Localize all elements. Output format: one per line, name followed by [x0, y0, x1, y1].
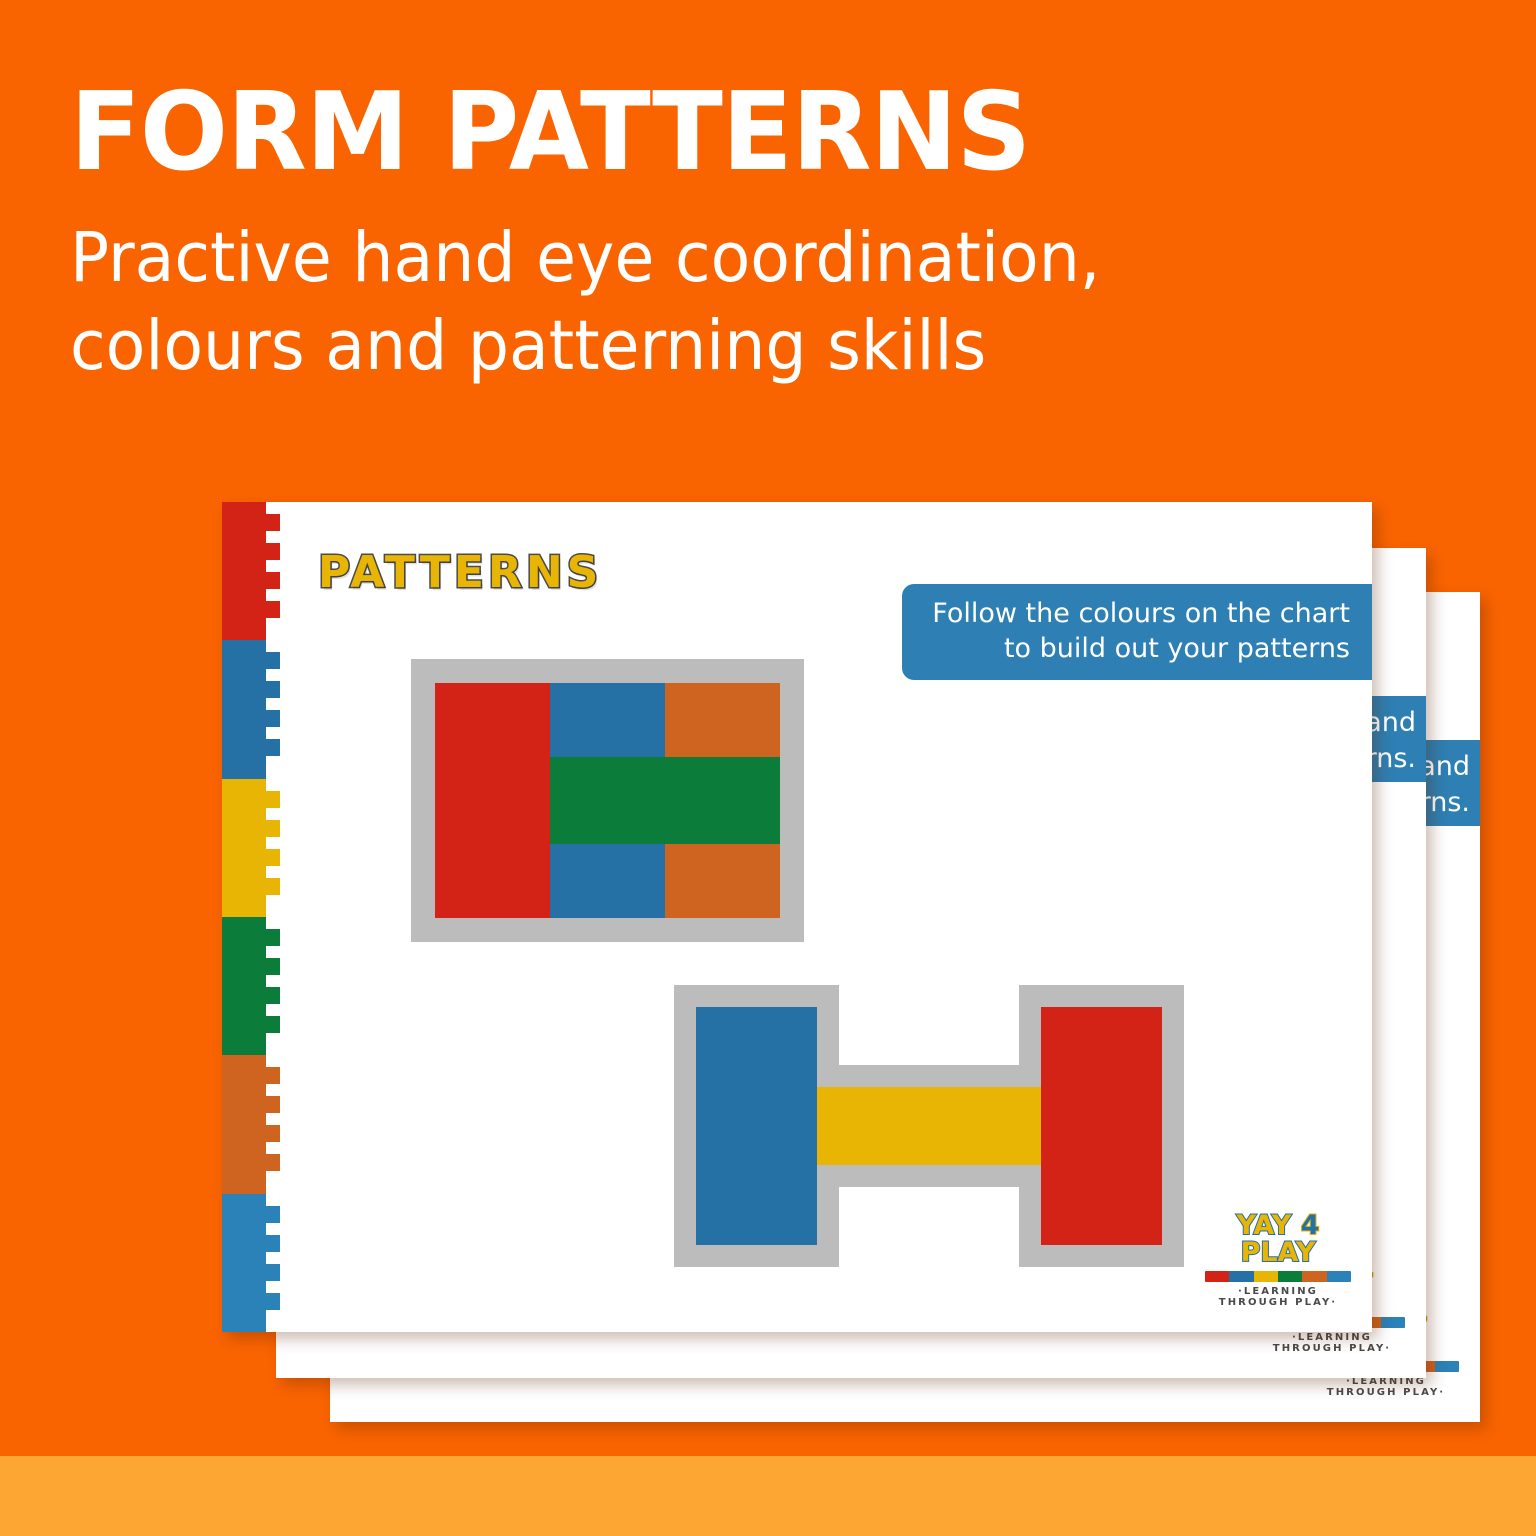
brick-green — [1278, 1271, 1302, 1282]
pattern-cell-blue-top — [550, 683, 665, 757]
page-title: FORM PATTERNS — [70, 78, 1356, 188]
tab-orange-notch — [266, 1125, 280, 1142]
tab-yellow-notch — [266, 878, 280, 895]
brick-light-blue — [1381, 1317, 1405, 1328]
brick-yellow — [1254, 1271, 1278, 1282]
tab-green-notch — [266, 1016, 280, 1033]
pattern-cell-green — [550, 757, 780, 844]
h-brick-yellow — [817, 1087, 1041, 1165]
tab-yellow-notch — [266, 791, 280, 808]
tab-orange-notch — [266, 1154, 280, 1171]
tab-light-blue — [222, 1194, 266, 1332]
worksheet-card-front[interactable]: PATTERNS Follow the colours on the chart… — [222, 502, 1372, 1332]
colour-tab-strip — [222, 502, 266, 1332]
tab-orange — [222, 1055, 266, 1193]
tab-green-notch — [266, 987, 280, 1004]
tab-light-blue-notch — [266, 1264, 280, 1281]
tab-red-notch — [266, 514, 280, 531]
logo-brick-bar — [1205, 1271, 1351, 1282]
pattern-figure-grid — [411, 659, 804, 942]
instruction-line-1: Follow the colours on the chart — [932, 596, 1350, 631]
tab-light-blue-notch — [266, 1293, 280, 1310]
page-subtitle: Practive hand eye coordination, colours … — [70, 214, 1330, 391]
instruction-line-2: to build out your patterns — [932, 631, 1350, 666]
tab-blue-notch — [266, 652, 280, 669]
logo-tagline: ·LEARNING THROUGH PLAY· — [1310, 1376, 1462, 1398]
brick-red — [1205, 1271, 1229, 1282]
tab-light-blue-notch — [266, 1235, 280, 1252]
tab-yellow-notch — [266, 820, 280, 837]
tab-blue — [222, 640, 266, 778]
header: FORM PATTERNS Practive hand eye coordina… — [70, 78, 1410, 391]
pattern-figure-h — [674, 985, 1184, 1267]
subtitle-line-1: Practive hand eye coordination, — [70, 214, 1330, 302]
bottom-stud-row — [0, 1456, 1536, 1474]
tab-yellow — [222, 779, 266, 917]
bottom-band — [0, 1456, 1536, 1536]
tab-orange-notch — [266, 1067, 280, 1084]
worksheet-heading: PATTERNS — [318, 547, 602, 598]
pattern-cell-blue-bot — [550, 844, 665, 918]
tab-red-notch — [266, 572, 280, 589]
brick-light-blue — [1435, 1361, 1459, 1372]
tab-orange-notch — [266, 1096, 280, 1113]
tab-red — [222, 502, 266, 640]
pattern-cell-orange-top — [665, 683, 780, 757]
subtitle-line-2: colours and patterning skills — [70, 302, 1330, 390]
tab-green-notch — [266, 958, 280, 975]
pattern-cell-orange-bot — [665, 844, 780, 918]
brick-orange — [1302, 1271, 1326, 1282]
tab-yellow-notch — [266, 849, 280, 866]
tab-green-notch — [266, 929, 280, 946]
instruction-banner: Follow the colours on the chart to build… — [902, 584, 1372, 680]
h-brick-blue — [696, 1007, 817, 1245]
brand-logo: YAY 4 PLAY ·LEARNING THROUGH PLAY· — [1202, 1212, 1354, 1308]
tab-blue-notch — [266, 710, 280, 727]
pattern-cell-red — [435, 683, 550, 918]
tab-blue-notch — [266, 739, 280, 756]
tab-red-notch — [266, 543, 280, 560]
logo-tagline: ·LEARNING THROUGH PLAY· — [1256, 1332, 1408, 1354]
worksheet-page: PATTERNS Follow the colours on the chart… — [266, 502, 1372, 1332]
tab-light-blue-notch — [266, 1206, 280, 1223]
brick-blue — [1229, 1271, 1253, 1282]
logo-wordmark: YAY 4 PLAY — [1202, 1212, 1354, 1266]
brick-light-blue — [1327, 1271, 1351, 1282]
h-brick-red — [1041, 1007, 1162, 1245]
logo-word-play: PLAY — [1241, 1237, 1316, 1268]
tab-red-notch — [266, 601, 280, 618]
tab-green — [222, 917, 266, 1055]
pattern-grid-inner — [435, 683, 780, 918]
tab-blue-notch — [266, 681, 280, 698]
logo-tagline: ·LEARNING THROUGH PLAY· — [1202, 1286, 1354, 1308]
